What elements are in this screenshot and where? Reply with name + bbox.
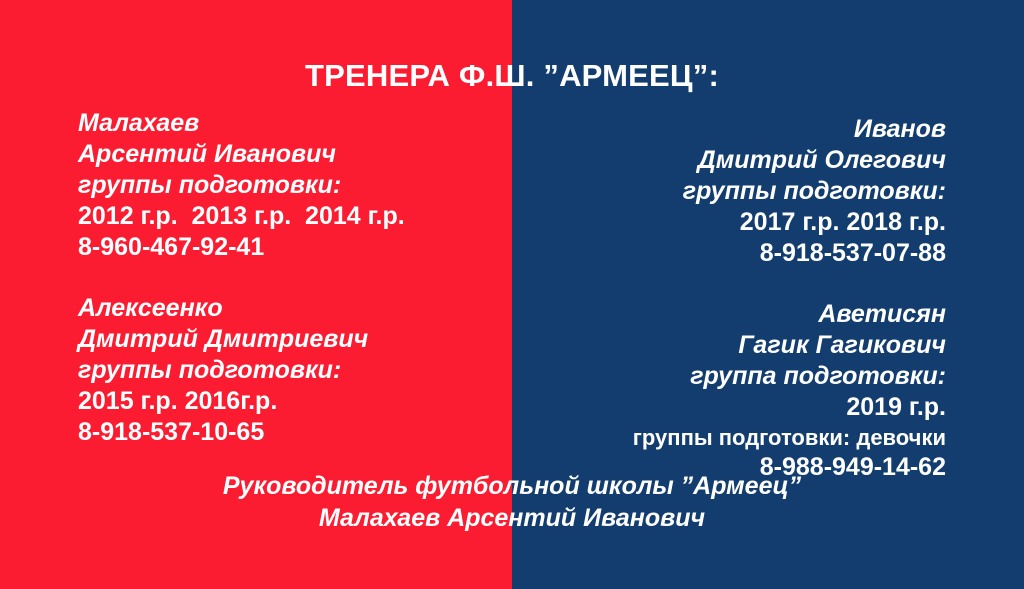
footer-block: Руководитель футбольной школы ”Армеец” М… [0,470,1024,534]
coach-phone[interactable]: 8-960-467-92-41 [78,232,498,263]
coach-entry-malakhaev: Малахаев Арсентий Иванович группы подгот… [78,108,498,263]
coach-surname: Иванов [532,114,946,145]
coach-entry-ivanov: Иванов Дмитрий Олегович группы подготовк… [532,114,946,269]
footer-name-line: Малахаев Арсентий Иванович [0,502,1024,534]
poster-root: ТРЕНЕРА Ф.Ш. ”АРМЕЕЦ”: Малахаев Арсентий… [0,0,1024,589]
coach-fullname: Арсентий Иванович [78,139,498,170]
coach-fullname: Дмитрий Дмитриевич [78,324,498,355]
coach-entry-avetisyan: Аветисян Гагик Гагикович группа подготов… [532,299,946,483]
coach-surname: Малахаев [78,108,498,139]
coach-surname: Аветисян [532,299,946,330]
coach-group-years: 2015 г.р. 2016г.р. [78,386,498,417]
coach-group-note: группы подготовки: девочки [532,423,946,452]
coach-group-label: группы подготовки: [532,176,946,207]
coach-fullname: Гагик Гагикович [532,330,946,361]
content-layer: ТРЕНЕРА Ф.Ш. ”АРМЕЕЦ”: Малахаев Арсентий… [0,0,1024,589]
coach-phone[interactable]: 8-918-537-07-88 [532,238,946,269]
footer-role-line: Руководитель футбольной школы ”Армеец” [0,470,1024,502]
coach-group-years: 2012 г.р. 2013 г.р. 2014 г.р. [78,201,498,232]
coach-group-years: 2017 г.р. 2018 г.р. [532,207,946,238]
coach-group-label: группы подготовки: [78,355,498,386]
right-coach-column: Иванов Дмитрий Олегович группы подготовк… [532,114,946,483]
page-title: ТРЕНЕРА Ф.Ш. ”АРМЕЕЦ”: [0,58,1024,94]
coach-surname: Алексеенко [78,293,498,324]
coach-entry-alekseenko: Алексеенко Дмитрий Дмитриевич группы под… [78,293,498,448]
coach-group-label: группа подготовки: [532,361,946,392]
coach-phone[interactable]: 8-918-537-10-65 [78,417,498,448]
coach-fullname: Дмитрий Олегович [532,145,946,176]
coach-group-years: 2019 г.р. [532,392,946,423]
left-coach-column: Малахаев Арсентий Иванович группы подгот… [78,108,498,448]
coach-group-label: группы подготовки: [78,170,498,201]
